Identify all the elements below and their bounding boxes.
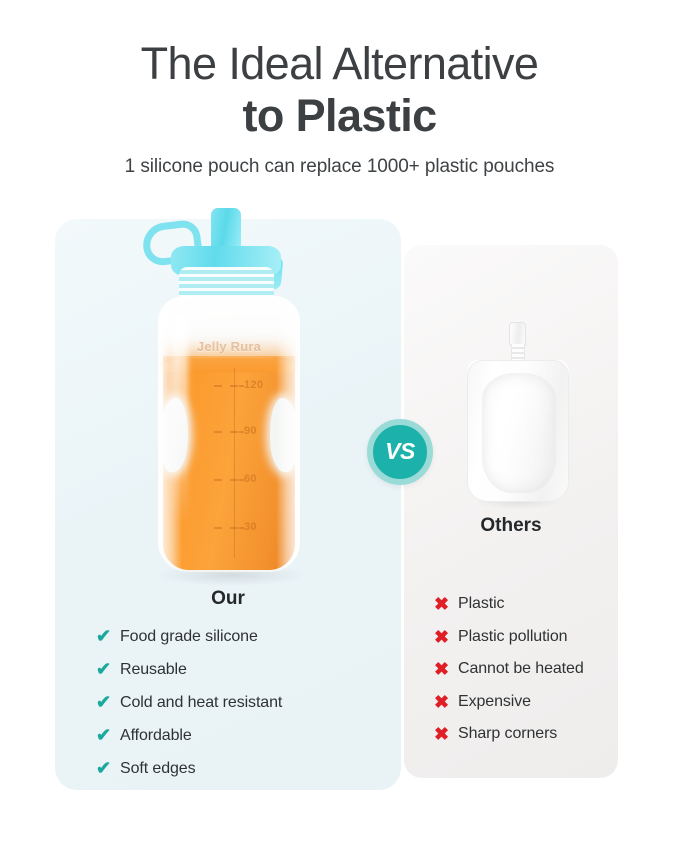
our-feature-list: ✔ Food grade silicone ✔ Reusable ✔ Cold … xyxy=(96,620,282,785)
pouch-body xyxy=(467,360,569,502)
others-feature-list: ✖ Plastic ✖ Plastic pollution ✖ Cannot b… xyxy=(434,588,584,751)
plastic-pouch-image xyxy=(467,322,569,502)
page-subtitle: 1 silicone pouch can replace 1000+ plast… xyxy=(0,156,679,178)
bottle-grip-cutout-right xyxy=(270,398,298,472)
list-item: ✖ Sharp corners xyxy=(434,718,584,751)
check-icon: ✔ xyxy=(96,759,120,777)
check-icon: ✔ xyxy=(96,693,120,711)
list-item: ✔ Affordable xyxy=(96,719,282,752)
list-item: ✖ Plastic pollution xyxy=(434,621,584,654)
page-title-line-1: The Ideal Alternative xyxy=(0,40,679,89)
list-item: ✔ Reusable xyxy=(96,653,282,686)
bottle-scale-value: 30 xyxy=(244,521,257,533)
list-item: ✔ Soft edges xyxy=(96,752,282,785)
cross-icon: ✖ xyxy=(434,660,458,678)
cross-icon: ✖ xyxy=(434,725,458,743)
others-column-heading: Others xyxy=(404,515,618,537)
cross-icon: ✖ xyxy=(434,693,458,711)
list-item: ✔ Food grade silicone xyxy=(96,620,282,653)
page-title-line-2: to Plastic xyxy=(0,89,679,142)
list-item-label: Cannot be heated xyxy=(458,660,584,678)
cross-icon: ✖ xyxy=(434,595,458,613)
bottle-scale-tick-90: 90 xyxy=(208,425,264,438)
bottle-scale-tick-30: 30 xyxy=(208,521,264,534)
list-item-label: Soft edges xyxy=(120,760,196,778)
list-item: ✖ Cannot be heated xyxy=(434,653,584,686)
header: The Ideal Alternative to Plastic 1 silic… xyxy=(0,40,679,178)
bottle-scale-value: 120 xyxy=(244,379,263,391)
list-item-label: Expensive xyxy=(458,693,531,711)
list-item: ✖ Plastic xyxy=(434,588,584,621)
list-item: ✖ Expensive xyxy=(434,686,584,719)
list-item-label: Plastic xyxy=(458,595,504,613)
brand-emboss-text: Jelly Rura xyxy=(158,340,300,353)
bottle-scale-value: 60 xyxy=(244,473,257,485)
silicone-bottle-image: Jelly Rura 120 90 60 30 xyxy=(128,208,328,580)
bottle-scale-value: 90 xyxy=(244,425,257,437)
check-icon: ✔ xyxy=(96,627,120,645)
comparison-infographic: The Ideal Alternative to Plastic 1 silic… xyxy=(0,0,679,849)
list-item: ✔ Cold and heat resistant xyxy=(96,686,282,719)
our-column-heading: Our xyxy=(55,588,401,610)
list-item-label: Affordable xyxy=(120,727,192,745)
vs-badge-label: VS xyxy=(385,438,415,465)
check-icon: ✔ xyxy=(96,660,120,678)
bottle-scale-tick-120: 120 xyxy=(208,379,264,392)
list-item-label: Sharp corners xyxy=(458,725,557,743)
list-item-label: Cold and heat resistant xyxy=(120,694,282,712)
list-item-label: Reusable xyxy=(120,661,187,679)
list-item-label: Plastic pollution xyxy=(458,628,567,646)
list-item-label: Food grade silicone xyxy=(120,628,258,646)
vs-badge: VS xyxy=(367,419,433,485)
bottle-scale-tick-60: 60 xyxy=(208,473,264,486)
pouch-cap xyxy=(509,322,526,346)
bottle-body: Jelly Rura 120 90 60 30 xyxy=(158,296,300,572)
check-icon: ✔ xyxy=(96,726,120,744)
cross-icon: ✖ xyxy=(434,628,458,646)
